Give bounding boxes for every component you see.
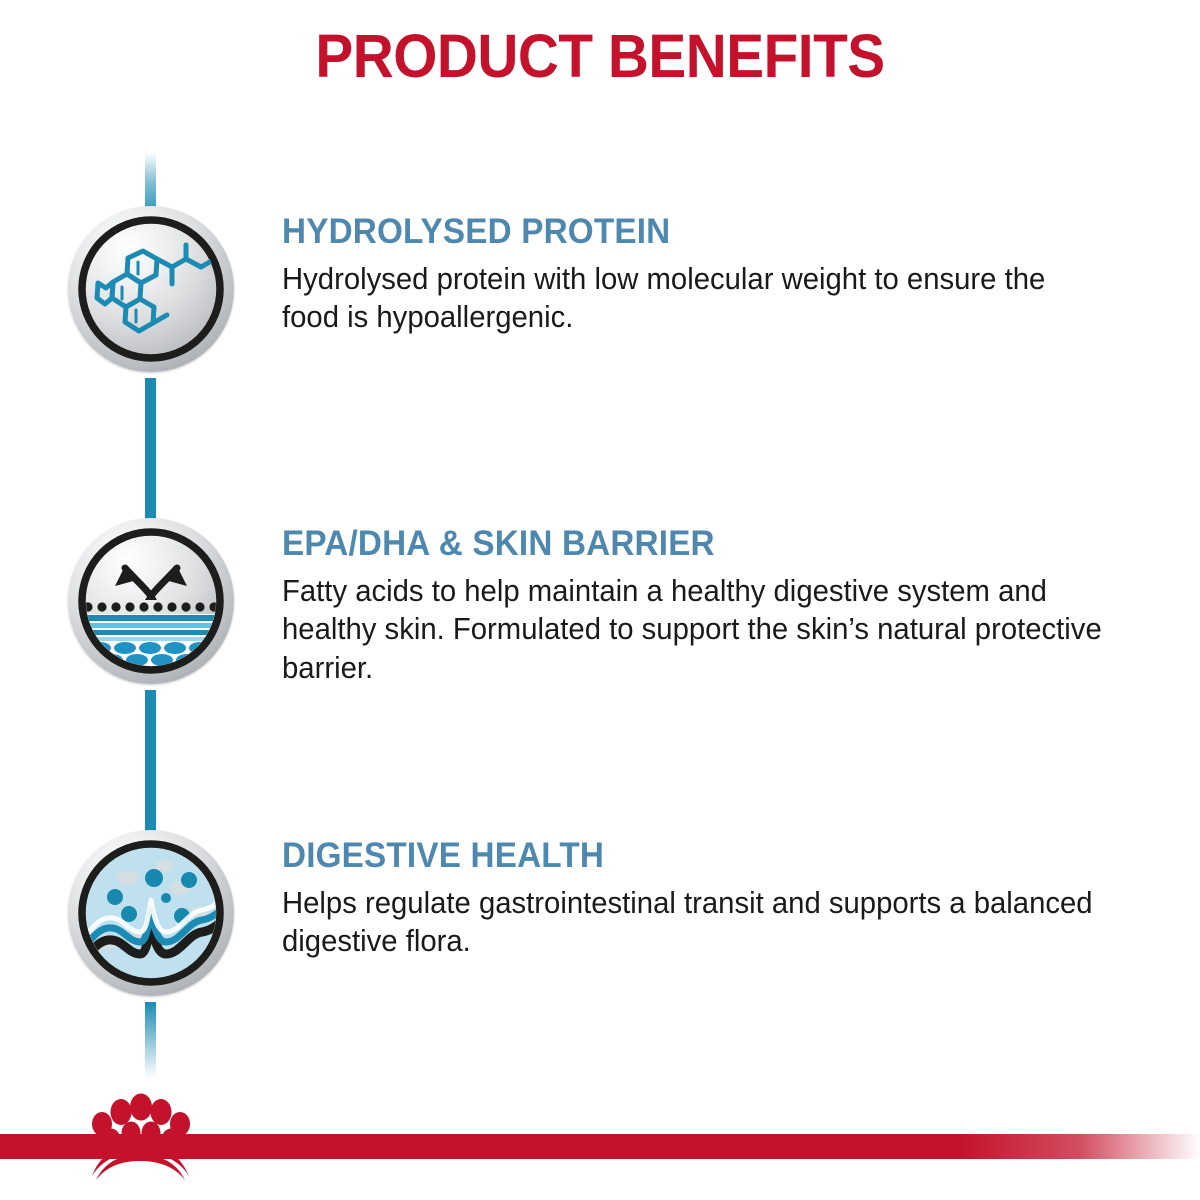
benefit-text-block: DIGESTIVE HEALTH Helps regulate gastroin… <box>282 838 1142 961</box>
benefit-description: Fatty acids to help maintain a healthy d… <box>282 572 1108 688</box>
benefit-text-block: EPA/DHA & SKIN BARRIER Fatty acids to he… <box>282 526 1142 688</box>
benefit-description: Helps regulate gastrointestinal transit … <box>282 884 1108 961</box>
benefit-icon-badge <box>68 830 234 996</box>
benefit-heading: HYDROLYSED PROTEIN <box>282 214 1099 251</box>
page-title: PRODUCT BENEFITS <box>42 26 1158 87</box>
connector-line-segment-middle-1 <box>145 378 156 524</box>
benefit-description: Hydrolysed protein with low molecular we… <box>282 260 1108 337</box>
intestinal-villi-flora-icon <box>68 830 234 996</box>
benefit-icon-badge <box>68 518 234 684</box>
benefit-text-block: HYDROLYSED PROTEIN Hydrolysed protein wi… <box>282 214 1142 337</box>
benefit-heading: DIGESTIVE HEALTH <box>282 838 1099 875</box>
molecule-hexagon-chain-icon <box>68 206 234 372</box>
connector-line-segment-middle-2 <box>145 690 156 836</box>
royal-canin-crown-logo <box>78 1088 203 1180</box>
crown-icon <box>78 1088 203 1180</box>
skin-barrier-deflecting-arrows-icon <box>68 518 234 684</box>
benefit-icon-badge <box>68 206 234 372</box>
product-benefits-panel: PRODUCT BENEFITS <box>0 0 1200 1200</box>
benefit-heading: EPA/DHA & SKIN BARRIER <box>282 526 1099 563</box>
connector-line-segment-bottom <box>145 1002 156 1078</box>
